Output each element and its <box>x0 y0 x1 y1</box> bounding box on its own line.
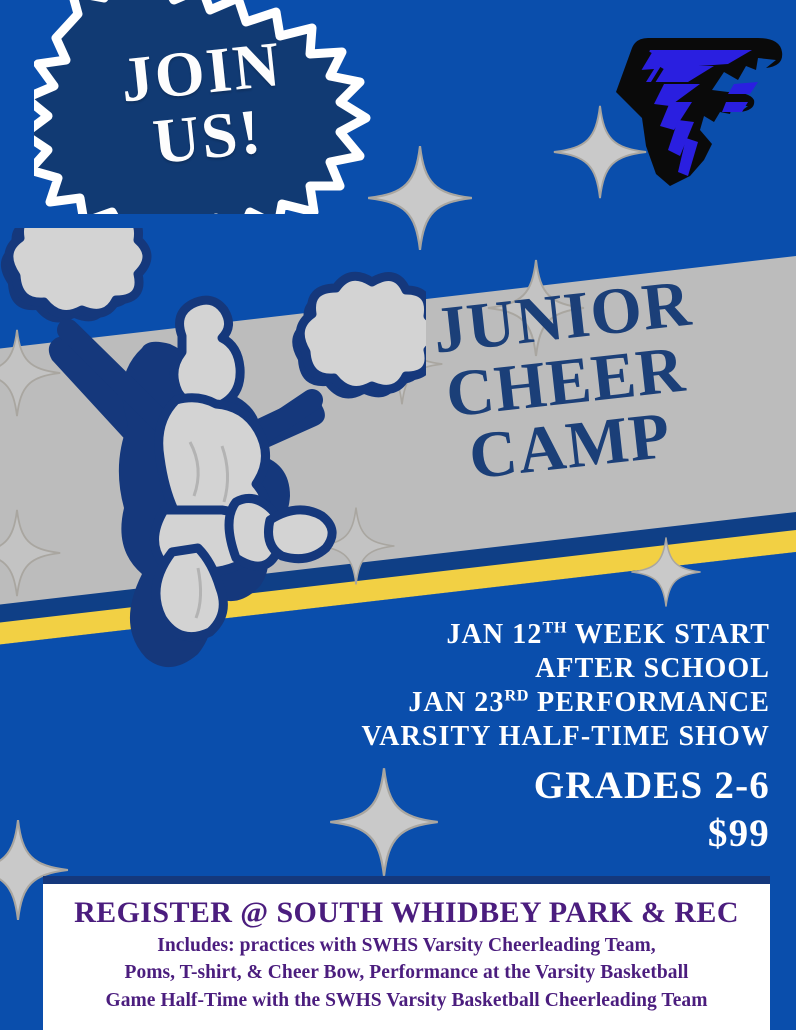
sparkle-icon-10 <box>630 536 702 608</box>
join-us-badge-text: JOIN US! <box>23 0 385 231</box>
includes-line-2: Poms, T-shirt, & Cheer Bow, Performance … <box>43 959 770 987</box>
falcon-logo <box>608 14 792 194</box>
register-headline: REGISTER @ SOUTH WHIDBEY PARK & REC <box>43 894 770 932</box>
page-title: JUNIOR CHEER CAMP <box>430 261 796 493</box>
cheer-camp-flyer: JOIN US! <box>0 0 796 1030</box>
footer-top-rule <box>43 876 770 884</box>
detail-week-start: JAN 12TH WEEK START <box>250 618 770 652</box>
detail-price: $99 <box>250 811 770 857</box>
includes-line-1: Includes: practices with SWHS Varsity Ch… <box>43 932 770 960</box>
detail-grades: GRADES 2-6 <box>250 761 770 811</box>
badge-line-2: US! <box>151 102 266 172</box>
detail-performance: JAN 23RD PERFORMANCE <box>250 686 770 720</box>
detail-halftime-show: VARSITY HALF-TIME SHOW <box>250 720 770 754</box>
registration-banner: REGISTER @ SOUTH WHIDBEY PARK & REC Incl… <box>43 884 770 1030</box>
detail-after-school: AFTER SCHOOL <box>250 652 770 686</box>
camp-details: JAN 12TH WEEK START AFTER SCHOOL JAN 23R… <box>250 618 770 857</box>
includes-line-3: Game Half-Time with the SWHS Varsity Bas… <box>43 987 770 1015</box>
join-us-badge: JOIN US! <box>34 0 374 214</box>
